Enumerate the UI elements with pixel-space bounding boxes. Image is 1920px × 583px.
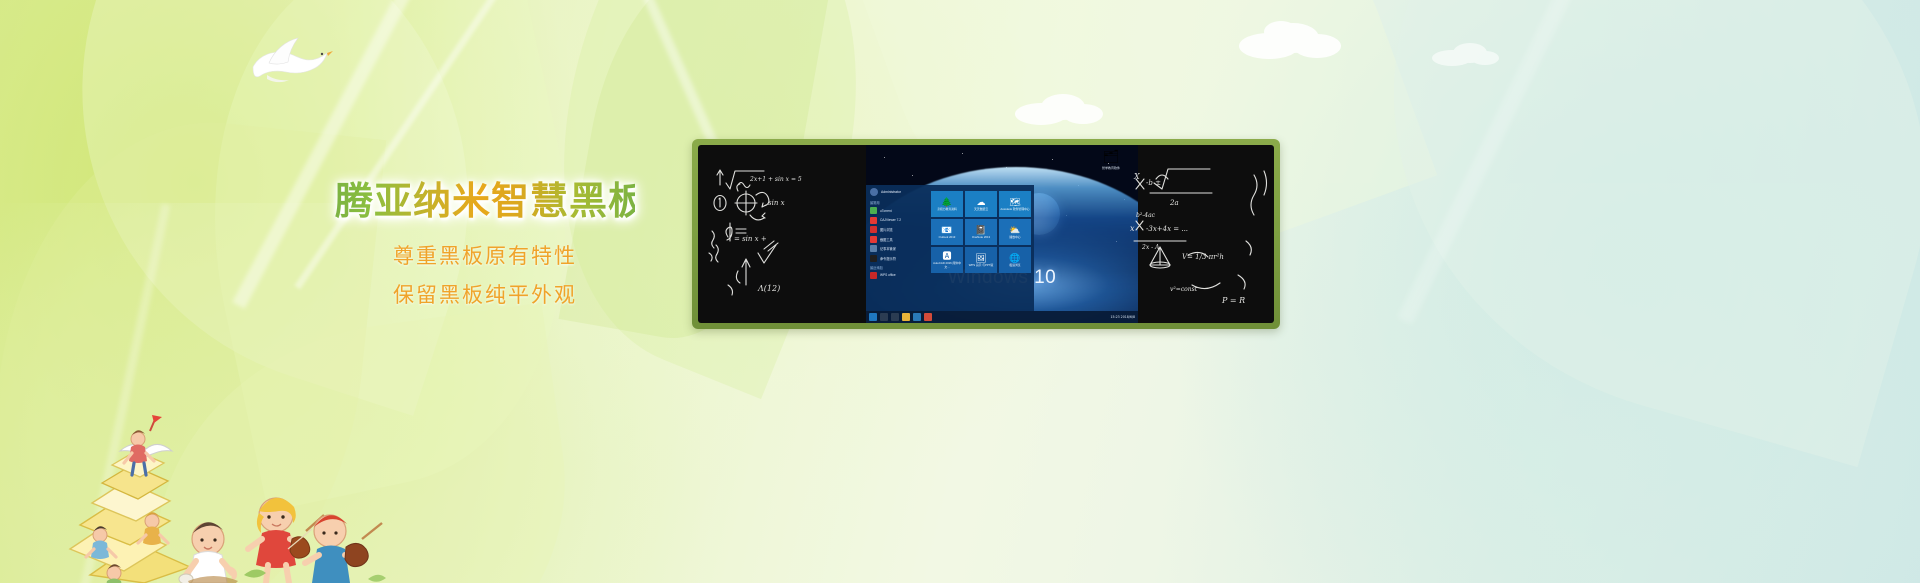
leaf-shape bbox=[1319, 0, 1920, 467]
chrome-icon: 🌐 bbox=[1009, 253, 1020, 263]
smart-blackboard-device: 2x+1 + sin x = 5 sin x = sin x + Λ(12) bbox=[692, 139, 1280, 329]
search-icon[interactable] bbox=[880, 313, 888, 321]
start-tile[interactable]: 🌲 亲和力教育资料 bbox=[931, 191, 963, 217]
user-name: Administrator bbox=[881, 190, 901, 194]
svg-text:X: X bbox=[1133, 172, 1140, 181]
chalk-handwriting-right: -b ± 2a b²-4ac -3x+4x = ... 2x - A V= 1/… bbox=[1126, 145, 1274, 323]
start-icon[interactable] bbox=[869, 313, 877, 321]
start-menu-item-label: CAJViewer 7.2 bbox=[880, 218, 901, 222]
start-menu-item[interactable]: 命令提示符 bbox=[870, 255, 926, 262]
start-tile[interactable]: 🅰 AutoCAD 2016 简体中文... bbox=[931, 247, 963, 273]
start-menu-item[interactable]: 截图工具 bbox=[870, 236, 926, 243]
svg-text:x: x bbox=[1130, 224, 1135, 233]
tile-label: Autodesk 软件管理中心 bbox=[1000, 208, 1029, 211]
start-tile[interactable]: ⛅ 播放中心 bbox=[999, 219, 1031, 245]
children-reading-books-illustration bbox=[40, 343, 420, 583]
tile-label: 极速浏览 bbox=[1009, 264, 1020, 267]
start-menu[interactable]: Administrator 最常用 uTorrent CAJViewer 7.2 bbox=[866, 185, 1034, 311]
svg-text:sin x: sin x bbox=[768, 199, 785, 207]
tile-label: WPS 演示 与PPT版 bbox=[969, 264, 994, 267]
svg-text:Λ(12): Λ(12) bbox=[757, 284, 780, 293]
app-green-icon bbox=[870, 207, 877, 214]
start-tile[interactable]: ☁ 天天数据云 bbox=[965, 191, 997, 217]
cloud-icon bbox=[1430, 38, 1500, 68]
app-red-icon bbox=[870, 272, 877, 279]
start-menu-left-column: Administrator 最常用 uTorrent CAJViewer 7.2 bbox=[866, 185, 928, 311]
store-icon[interactable] bbox=[924, 313, 932, 321]
background-wash bbox=[1180, 0, 1920, 583]
start-menu-item-label: 命令提示符 bbox=[880, 256, 896, 261]
chalk-notes-left: 2x+1 + sin x = 5 sin x = sin x + Λ(12) bbox=[698, 145, 866, 323]
maps-icon: 🗺 bbox=[1009, 197, 1020, 207]
start-menu-group-label: 最近添加 bbox=[870, 265, 926, 270]
svg-text:= sin x +: = sin x + bbox=[734, 235, 767, 243]
avatar bbox=[870, 188, 878, 196]
start-menu-item-label: 图片浏览 bbox=[880, 227, 893, 232]
svg-text:-3x+4x = ...: -3x+4x = ... bbox=[1146, 225, 1188, 233]
start-menu-item[interactable]: CAJViewer 7.2 bbox=[870, 217, 926, 224]
svg-text:V= 1/3 πr²h: V= 1/3 πr²h bbox=[1182, 253, 1224, 261]
app-red-icon bbox=[870, 226, 877, 233]
subtitle-line-1: 尊重黑板原有特性 bbox=[335, 246, 635, 267]
svg-text:b²-4ac: b²-4ac bbox=[1136, 212, 1156, 219]
start-menu-tiles: 🌲 亲和力教育资料 ☁ 天天数据云 🗺 Autodesk 软件管理中心 bbox=[928, 185, 1034, 311]
start-tile[interactable]: 🖼 WPS 演示 与PPT版 bbox=[965, 247, 997, 273]
weather-icon: ⛅ bbox=[1009, 225, 1020, 235]
start-menu-item-label: 记事本管家 bbox=[880, 246, 896, 251]
start-menu-item[interactable]: uTorrent bbox=[870, 207, 926, 214]
start-menu-group-label: 最常用 bbox=[870, 200, 926, 205]
desktop-icon-label: 智学教育软件 bbox=[1098, 166, 1124, 170]
app-dark-icon bbox=[870, 255, 877, 262]
cloud-icon: ☁ bbox=[977, 197, 986, 207]
svg-text:2a: 2a bbox=[1169, 199, 1179, 207]
windows-desktop: Windows 10 🗂 智学教育软件 Administrator 最常用 bbox=[866, 145, 1138, 323]
photos-icon: 🖼 bbox=[975, 253, 986, 263]
dove-icon bbox=[243, 33, 333, 88]
app-teal-icon bbox=[870, 236, 877, 243]
svg-text:P = R: P = R bbox=[1221, 296, 1245, 305]
tile-label: 亲和力教育资料 bbox=[937, 208, 957, 211]
promo-banner: 腾亚纳米智慧黑板 尊重黑板原有特性 保留黑板纯平外观 bbox=[0, 0, 1920, 583]
start-tile[interactable]: 🌐 极速浏览 bbox=[999, 247, 1031, 273]
light-streak bbox=[1398, 0, 1579, 324]
chalk-handwriting-left: 2x+1 + sin x = 5 sin x = sin x + Λ(12) bbox=[698, 145, 866, 323]
taskview-icon[interactable] bbox=[891, 313, 899, 321]
app-blue-icon bbox=[870, 217, 877, 224]
cloud-icon bbox=[1013, 86, 1105, 128]
subtitle-list: 尊重黑板原有特性 保留黑板纯平外观 bbox=[335, 246, 635, 306]
taskbar[interactable]: 15:23 2018/6/8 bbox=[866, 311, 1138, 323]
subtitle-line-2: 保留黑板纯平外观 bbox=[335, 285, 635, 306]
explorer-icon[interactable] bbox=[902, 313, 910, 321]
desktop-icon-app[interactable]: 🗂 智学教育软件 bbox=[1098, 151, 1124, 170]
tile-label: 播放中心 bbox=[1009, 236, 1020, 239]
acrobat-icon: 🅰 bbox=[942, 251, 951, 261]
outlook-icon: 📧 bbox=[941, 225, 952, 235]
child-figure-sitting bbox=[179, 522, 235, 583]
start-menu-item[interactable]: 记事本管家 bbox=[870, 245, 926, 252]
start-menu-item-label: WPS office bbox=[880, 273, 896, 277]
app-grey-icon bbox=[870, 245, 877, 252]
onenote-icon: 📓 bbox=[975, 225, 986, 235]
cloud-icon bbox=[1235, 12, 1345, 64]
tree-icon: 🌲 bbox=[941, 197, 952, 207]
tile-label: Outlook 2013 bbox=[939, 236, 956, 239]
child-figure-violin-2 bbox=[305, 515, 382, 583]
chalk-notes-right: -b ± 2a b²-4ac -3x+4x = ... 2x - A V= 1/… bbox=[1126, 145, 1274, 323]
tile-label: OneNote 2013 bbox=[972, 236, 990, 239]
page-title: 腾亚纳米智慧黑板 bbox=[335, 180, 635, 224]
start-tile[interactable]: 📓 OneNote 2013 bbox=[965, 219, 997, 245]
start-tile[interactable]: 📧 Outlook 2013 bbox=[931, 219, 963, 245]
start-menu-item[interactable]: 图片浏览 bbox=[870, 226, 926, 233]
banner-text-block: 腾亚纳米智慧黑板 尊重黑板原有特性 保留黑板纯平外观 bbox=[335, 180, 635, 324]
svg-text:2x - A: 2x - A bbox=[1141, 244, 1160, 251]
device-screen: 2x+1 + sin x = 5 sin x = sin x + Λ(12) bbox=[698, 145, 1274, 323]
start-tile[interactable]: 🗺 Autodesk 软件管理中心 bbox=[999, 191, 1031, 217]
svg-text:2x+1 + sin x = 5: 2x+1 + sin x = 5 bbox=[749, 176, 802, 183]
tile-label: 天天数据云 bbox=[974, 208, 988, 211]
edge-icon[interactable] bbox=[913, 313, 921, 321]
book-stack bbox=[70, 444, 190, 583]
start-menu-user[interactable]: Administrator bbox=[870, 188, 926, 196]
svg-text:v²=const: v²=const bbox=[1170, 286, 1198, 293]
start-menu-item[interactable]: WPS office bbox=[870, 272, 926, 279]
tile-label: AutoCAD 2016 简体中文... bbox=[932, 262, 962, 269]
start-menu-item-label: 截图工具 bbox=[880, 237, 893, 242]
app-icon: 🗂 bbox=[1098, 151, 1124, 165]
start-menu-item-label: uTorrent bbox=[880, 209, 892, 213]
svg-text:-b ±: -b ± bbox=[1146, 179, 1161, 187]
